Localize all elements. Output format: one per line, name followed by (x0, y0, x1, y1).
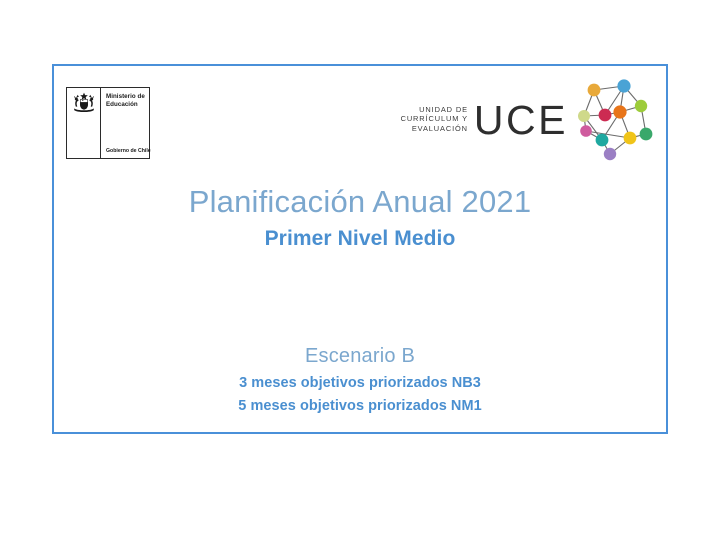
uce-tagline-line-2: CURRÍCULUM Y (401, 114, 468, 124)
network-nodes-icon (572, 76, 658, 164)
page-subtitle: Primer Nivel Medio (54, 225, 666, 253)
ministry-of-education-logo: Ministerio de Educación Gobierno de Chil… (66, 87, 150, 159)
uce-tagline-line-1: UNIDAD DE (401, 105, 468, 115)
scenario-detail-line-1: 3 meses objetivos priorizados NB3 (54, 372, 666, 395)
slide-frame: Ministerio de Educación Gobierno de Chil… (52, 64, 668, 434)
uce-tagline: UNIDAD DE CURRÍCULUM Y EVALUACIÓN (401, 105, 474, 136)
page-title: Planificación Anual 2021 (54, 184, 666, 220)
ministry-name-line-2: Educación (106, 101, 149, 109)
uce-wordmark: UCE (474, 100, 572, 141)
chile-coat-of-arms-icon (67, 88, 101, 158)
ministry-logo-text: Ministerio de Educación Gobierno de Chil… (101, 88, 149, 158)
scenario-heading: Escenario B (54, 344, 666, 369)
scenario-detail-line-2: 5 meses objetivos priorizados NM1 (54, 395, 666, 418)
title-block: Planificación Anual 2021 Primer Nivel Me… (54, 184, 666, 253)
government-of-chile-label: Gobierno de Chile (106, 148, 151, 154)
uce-tagline-line-3: EVALUACIÓN (401, 124, 468, 134)
ministry-name-line-1: Ministerio de (106, 93, 149, 101)
scenario-block: Escenario B 3 meses objetivos priorizado… (54, 344, 666, 418)
uce-logo: UNIDAD DE CURRÍCULUM Y EVALUACIÓN UCE (401, 70, 658, 170)
